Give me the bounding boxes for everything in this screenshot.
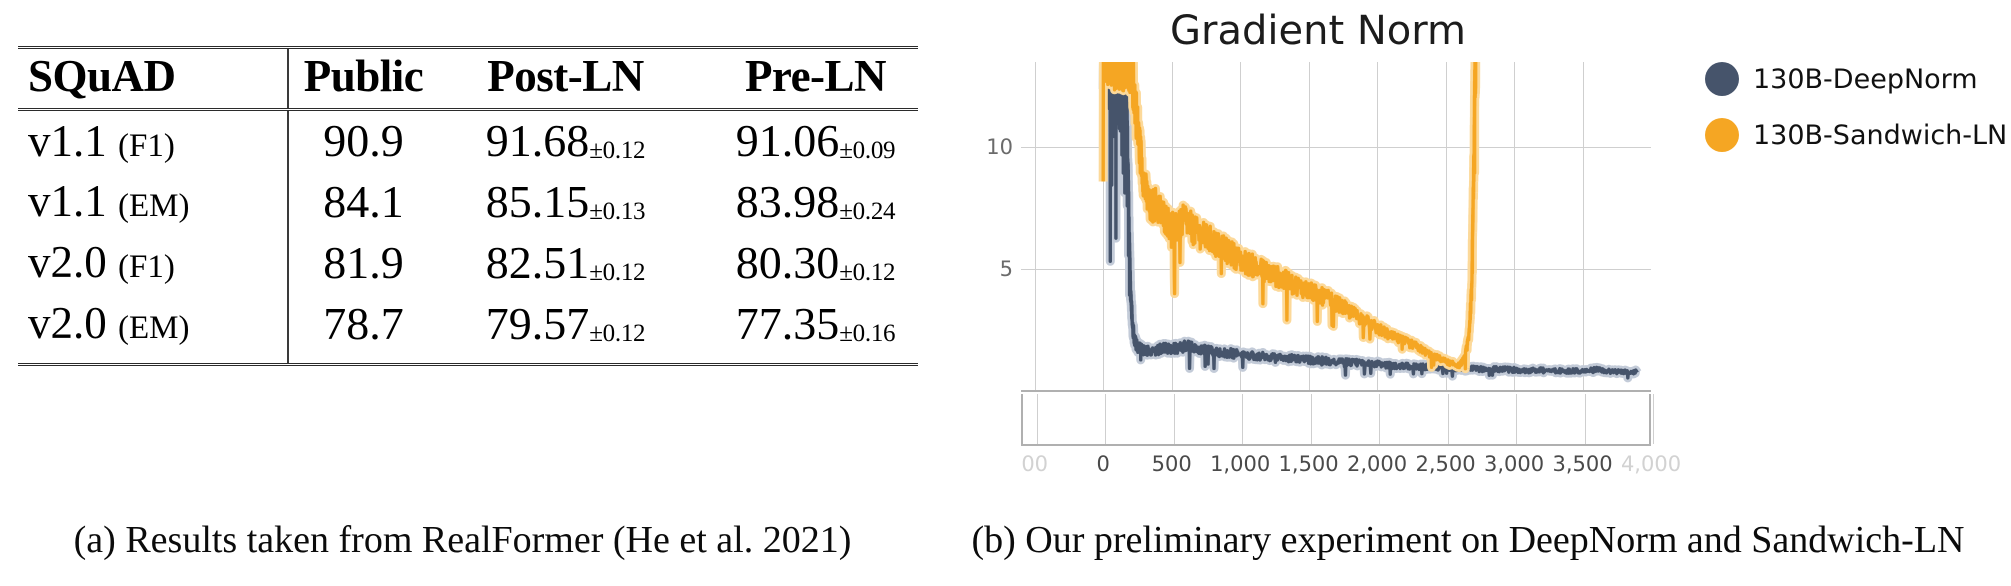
cell-pre-ln: 83.98±0.24 [693,172,918,233]
row-label-v11-em: v1.1 (EM) [18,172,288,233]
cell-value: 80.30 [736,237,840,288]
x-axis-tick-label: 500 [1152,452,1192,476]
figure-root: SQuAD Public Post-LN Pre-LN v1.1 (F1) 90… [0,0,2011,586]
x-axis-tick-label: 4,000 [1621,452,1681,476]
row-label-v11-f1: v1.1 (F1) [18,110,288,172]
cell-pre-ln: 77.35±0.16 [693,294,918,364]
cell-error: ±0.12 [589,320,645,347]
cell-public: 90.9 [288,110,438,172]
cell-error: ±0.12 [589,137,645,164]
gridline-vertical [1105,394,1106,444]
table-row: v2.0 (EM) 78.7 79.57±0.12 77.35±0.16 [18,294,918,364]
legend-label: 130B-Sandwich-LN [1753,120,2007,151]
x-axis-tick-label: 1,500 [1279,452,1339,476]
gridline-vertical [1311,394,1312,444]
panel-a-caption: (a) Results taken from RealFormer (He et… [0,518,925,562]
y-axis-tick-label: 10 [986,135,1013,159]
cell-error: ±0.24 [839,198,895,225]
squad-results-table: SQuAD Public Post-LN Pre-LN v1.1 (F1) 90… [18,46,918,366]
cell-value: 90.9 [323,115,404,166]
legend-item-sandwich-ln[interactable]: 130B-Sandwich-LN [1705,118,2005,152]
cell-error: ±0.09 [839,137,895,164]
legend-item-deepnorm[interactable]: 130B-DeepNorm [1705,62,2005,96]
panel-b-caption: (b) Our preliminary experiment on DeepNo… [925,518,2011,562]
row-label-v20-f1: v2.0 (F1) [18,233,288,294]
cell-error: ±0.16 [839,320,895,347]
series-canvas [1021,62,1651,390]
gridline-vertical [1037,394,1038,444]
cell-public: 84.1 [288,172,438,233]
y-axis-tick-label: 5 [1000,257,1013,281]
header-pre-ln: Pre-LN [693,48,918,110]
cell-pre-ln: 80.30±0.12 [693,233,918,294]
cell-public: 81.9 [288,233,438,294]
cell-value: 84.1 [323,176,404,227]
cell-post-ln: 91.68±0.12 [438,110,693,172]
squad-table-container: SQuAD Public Post-LN Pre-LN v1.1 (F1) 90… [18,46,918,366]
row-metric: (F1) [118,128,175,164]
row-metric: (EM) [118,310,189,346]
chart-title: Gradient Norm [925,8,1711,54]
gridline-vertical [1653,394,1654,444]
header-post-ln: Post-LN [438,48,693,110]
table-row: v2.0 (F1) 81.9 82.51±0.12 80.30±0.12 [18,233,918,294]
cell-post-ln: 85.15±0.13 [438,172,693,233]
x-axis-tick-label: 3,500 [1552,452,1612,476]
cell-error: ±0.12 [839,259,895,286]
x-axis-tick-label: 00 [1021,452,1048,476]
row-version: v1.1 [28,116,107,166]
table-header-row: SQuAD Public Post-LN Pre-LN [18,48,918,110]
cell-value: 83.98 [736,176,840,227]
gridline-vertical [1448,394,1449,444]
cell-public: 78.7 [288,294,438,364]
x-axis-tick-label: 3,000 [1484,452,1544,476]
cell-pre-ln: 91.06±0.09 [693,110,918,172]
cell-value: 91.68 [486,115,590,166]
cell-value: 77.35 [736,298,840,349]
legend-swatch-icon [1705,62,1739,96]
y-axis-labels: 510 [963,62,1021,392]
gridline-vertical [1379,394,1380,444]
chart-legend: 130B-DeepNorm 130B-Sandwich-LN [1705,62,2005,174]
x-axis-tick-label: 2,500 [1416,452,1476,476]
plot-area [1021,62,1651,392]
gridline-vertical [1516,394,1517,444]
x-axis-tick-label: 1,000 [1210,452,1270,476]
table-row: v1.1 (EM) 84.1 85.15±0.13 83.98±0.24 [18,172,918,233]
header-squad: SQuAD [18,48,288,110]
row-metric: (EM) [118,188,189,224]
row-version: v2.0 [28,298,107,348]
cell-value: 91.06 [736,115,840,166]
panel-a-table: SQuAD Public Post-LN Pre-LN v1.1 (F1) 90… [0,0,925,586]
cell-value: 79.57 [486,298,590,349]
gridline-vertical [1174,394,1175,444]
cell-error: ±0.13 [589,198,645,225]
cell-value: 85.15 [486,176,590,227]
panel-b-chart: Gradient Norm 510 0005001,0001,5002,0002… [925,0,2011,586]
header-public: Public [288,48,438,110]
gridline-vertical [1585,394,1586,444]
cell-value: 81.9 [323,237,404,288]
legend-swatch-icon [1705,118,1739,152]
cell-post-ln: 79.57±0.12 [438,294,693,364]
row-version: v1.1 [28,176,107,226]
gridline-vertical [1242,394,1243,444]
x-axis-tick-label: 2,000 [1347,452,1407,476]
cell-value: 78.7 [323,298,404,349]
x-axis-tick-label: 0 [1096,452,1109,476]
cell-error: ±0.12 [589,259,645,286]
x-axis-labels: 0005001,0001,5002,0002,5003,0003,5004,00… [1021,452,1651,486]
plot-wrapper: 510 0005001,0001,5002,0002,5003,0003,500… [963,62,1653,456]
cell-value: 82.51 [486,237,590,288]
row-version: v2.0 [28,237,107,287]
legend-label: 130B-DeepNorm [1753,64,1978,95]
row-metric: (F1) [118,249,175,285]
cell-post-ln: 82.51±0.12 [438,233,693,294]
plot-lower-band [1021,394,1651,446]
row-label-v20-em: v2.0 (EM) [18,294,288,364]
table-row: v1.1 (F1) 90.9 91.68±0.12 91.06±0.09 [18,110,918,172]
